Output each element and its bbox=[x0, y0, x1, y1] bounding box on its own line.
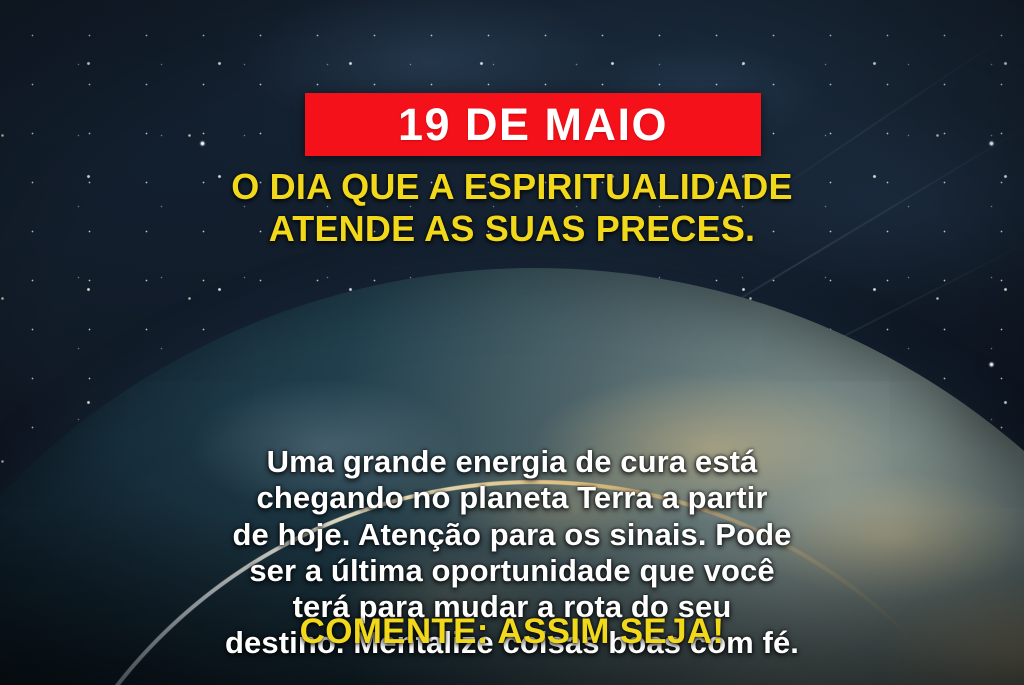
poster-canvas: 19 DE MAIO O DIA QUE A ESPIRITUALIDADE A… bbox=[0, 0, 1024, 685]
poster-content: 19 DE MAIO O DIA QUE A ESPIRITUALIDADE A… bbox=[0, 0, 1024, 685]
body-line-2: chegando no planeta Terra a partir bbox=[26, 480, 998, 516]
body-line-1: Uma grande energia de cura está bbox=[26, 444, 998, 480]
headline-line-1: O DIA QUE A ESPIRITUALIDADE bbox=[40, 166, 984, 208]
date-banner: 19 DE MAIO bbox=[305, 93, 761, 156]
call-to-action-label: COMENTE: ASSIM SEJA! bbox=[300, 612, 725, 651]
body-line-4: ser a última oportunidade que você bbox=[26, 553, 998, 589]
call-to-action: COMENTE: ASSIM SEJA! bbox=[0, 613, 1024, 652]
body-line-3: de hoje. Atenção para os sinais. Pode bbox=[26, 517, 998, 553]
headline: O DIA QUE A ESPIRITUALIDADE ATENDE AS SU… bbox=[0, 166, 1024, 250]
date-banner-label: 19 DE MAIO bbox=[398, 102, 668, 147]
headline-line-2: ATENDE AS SUAS PRECES. bbox=[40, 208, 984, 250]
